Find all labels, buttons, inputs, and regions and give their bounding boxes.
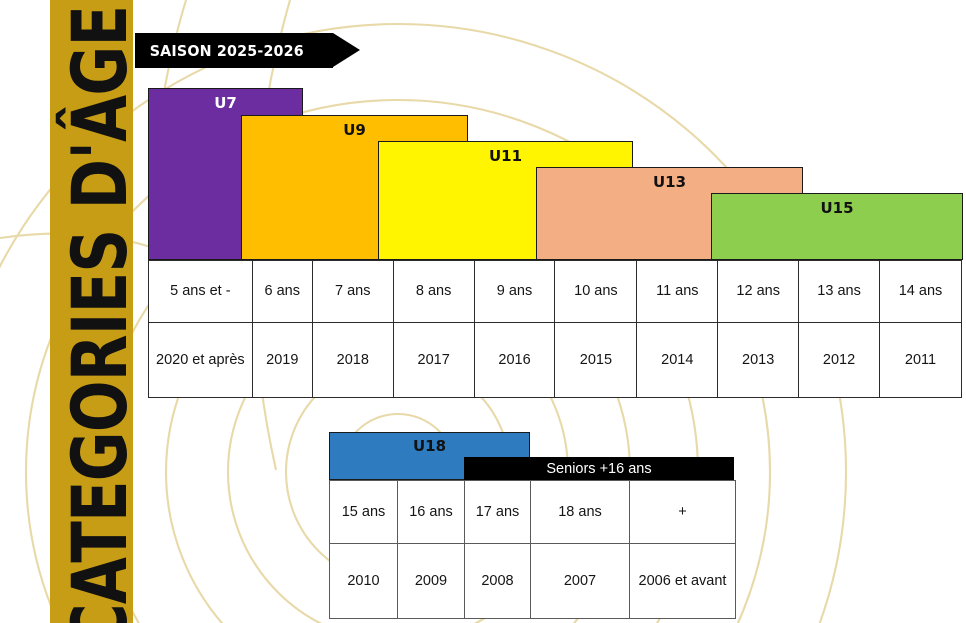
- bottom-year-cell: 2010: [330, 544, 398, 619]
- main-age-cell: 14 ans: [880, 261, 962, 323]
- seniors-header-label: Seniors +16 ans: [546, 461, 651, 477]
- main-age-table: 5 ans et -6 ans7 ans8 ans9 ans10 ans11 a…: [148, 260, 962, 398]
- main-age-cell: 5 ans et -: [149, 261, 253, 323]
- category-bar-label: U15: [820, 199, 853, 217]
- bottom-age-cell: 17 ans: [465, 481, 531, 544]
- bottom-year-cell: 2009: [398, 544, 465, 619]
- bottom-year-cell: 2006 et avant: [630, 544, 736, 619]
- poster-canvas: CATEGORIES D'ÂGE SAISON 2025-2026 U7U9U1…: [0, 0, 966, 623]
- category-bar-label: U13: [653, 173, 686, 191]
- main-year-cell: 2017: [393, 322, 474, 397]
- main-year-cell: 2012: [799, 322, 880, 397]
- main-age-cell: 8 ans: [393, 261, 474, 323]
- bottom-table-age-row: 15 ans16 ans17 ans18 ans+: [330, 481, 736, 544]
- season-banner-label: SAISON 2025-2026: [135, 42, 304, 60]
- bottom-age-cell: 16 ans: [398, 481, 465, 544]
- main-table-year-row: 2020 et après201920182017201620152014201…: [149, 322, 962, 397]
- main-table-age-row: 5 ans et -6 ans7 ans8 ans9 ans10 ans11 a…: [149, 261, 962, 323]
- bottom-age-table: 15 ans16 ans17 ans18 ans+ 20102009200820…: [329, 480, 736, 619]
- bottom-table-year-row: 20102009200820072006 et avant: [330, 544, 736, 619]
- content-layer: SAISON 2025-2026 U7U9U11U13U15 5 ans et …: [0, 0, 966, 623]
- main-age-cell: 6 ans: [252, 261, 312, 323]
- category-bar-u15: U15: [711, 193, 963, 260]
- main-year-cell: 2013: [718, 322, 799, 397]
- bottom-year-cell: 2007: [531, 544, 630, 619]
- category-bar-label: U7: [214, 94, 237, 112]
- main-age-cell: 13 ans: [799, 261, 880, 323]
- season-banner-body: SAISON 2025-2026: [135, 33, 333, 68]
- main-year-cell: 2018: [312, 322, 393, 397]
- main-year-cell: 2019: [252, 322, 312, 397]
- season-banner: SAISON 2025-2026: [135, 33, 360, 68]
- main-year-cell: 2015: [555, 322, 637, 397]
- u18-header-label: U18: [413, 437, 446, 455]
- category-bar-label: U9: [343, 121, 366, 139]
- category-bar-label: U11: [489, 147, 522, 165]
- main-year-cell: 2016: [474, 322, 555, 397]
- main-age-cell: 11 ans: [637, 261, 718, 323]
- main-year-cell: 2020 et après: [149, 322, 253, 397]
- bottom-year-cell: 2008: [465, 544, 531, 619]
- main-age-cell: 12 ans: [718, 261, 799, 323]
- main-age-cell: 10 ans: [555, 261, 637, 323]
- bottom-age-cell: +: [630, 481, 736, 544]
- bottom-age-cell: 18 ans: [531, 481, 630, 544]
- main-age-cell: 9 ans: [474, 261, 555, 323]
- main-year-cell: 2011: [880, 322, 962, 397]
- main-year-cell: 2014: [637, 322, 718, 397]
- seniors-header: Seniors +16 ans: [464, 457, 734, 480]
- main-age-cell: 7 ans: [312, 261, 393, 323]
- bottom-age-section: U18 Seniors +16 ans 15 ans16 ans17 ans18…: [329, 432, 735, 617]
- bottom-age-cell: 15 ans: [330, 481, 398, 544]
- season-banner-arrow-icon: [333, 33, 360, 67]
